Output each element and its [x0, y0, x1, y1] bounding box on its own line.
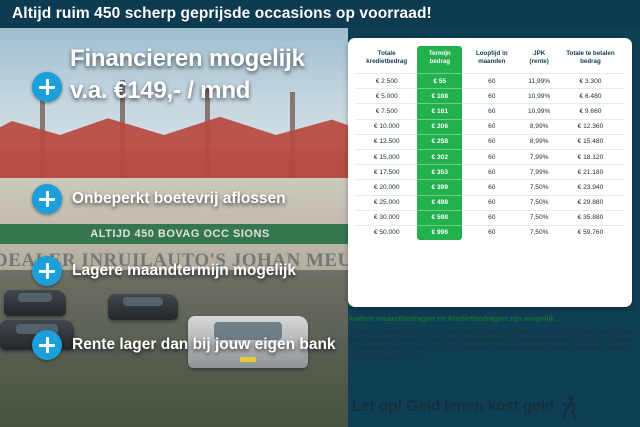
col-header-total-credit: Totale kredietbedrag: [356, 46, 417, 74]
table-cell: € 17.500: [356, 165, 417, 180]
table-cell: € 50.000: [356, 225, 417, 240]
table-cell: € 10.000: [356, 119, 417, 134]
table-cell: 7,50%: [521, 210, 556, 225]
table-cell: € 59.760: [557, 225, 624, 240]
table-cell: € 6.480: [557, 89, 624, 104]
table-row: € 10.000€ 206608,99%€ 12.360: [356, 119, 624, 134]
cell-monthly-amount: € 353: [417, 165, 462, 180]
rate-table-card: Totale kredietbedrag Termijn bedrag Loop…: [348, 38, 632, 307]
table-cell: 11,99%: [521, 74, 556, 89]
table-row: € 7.500€ 1616010,99%€ 9.660: [356, 104, 624, 119]
table-cell: € 3.300: [557, 74, 624, 89]
banner-text: ALTIJD 450 BOVAG OCC SIONS: [0, 224, 348, 244]
headline-block: Financieren mogelijk v.a. €149,- / mnd: [70, 44, 342, 106]
walking-person-icon: [560, 395, 580, 419]
col-header-total-payable: Totale te betalen bedrag: [557, 46, 624, 74]
table-cell: 7,50%: [521, 195, 556, 210]
cell-monthly-amount: € 598: [417, 210, 462, 225]
bullet-label: Lagere maandtermijn mogelijk: [72, 262, 296, 280]
headline-plus-row: [32, 72, 62, 102]
table-cell: 60: [462, 149, 521, 164]
table-cell: 60: [462, 195, 521, 210]
legal-body: Genoemde voorbeelden zijn op basis van p…: [348, 328, 632, 362]
table-cell: € 2.500: [356, 74, 417, 89]
table-cell: € 15.000: [356, 149, 417, 164]
table-cell: € 15.480: [557, 134, 624, 149]
table-cell: 60: [462, 74, 521, 89]
cell-monthly-amount: € 996: [417, 225, 462, 240]
cell-monthly-amount: € 55: [417, 74, 462, 89]
table-cell: € 20.000: [356, 180, 417, 195]
plus-icon: [32, 72, 62, 102]
bullet-label: Rente lager dan bij jouw eigen bank: [72, 336, 336, 354]
table-header-row: Totale kredietbedrag Termijn bedrag Loop…: [356, 46, 624, 74]
table-cell: 60: [462, 104, 521, 119]
top-banner-text: Altijd ruim 450 scherp geprijsde occasio…: [0, 5, 432, 23]
cell-monthly-amount: € 302: [417, 149, 462, 164]
plus-icon: [32, 184, 62, 214]
table-cell: € 30.000: [356, 210, 417, 225]
car-window: [18, 293, 53, 302]
table-cell: € 7.500: [356, 104, 417, 119]
table-row: € 15.000€ 302607,99%€ 18.120: [356, 149, 624, 164]
parked-car: [4, 290, 66, 316]
cell-monthly-amount: € 258: [417, 134, 462, 149]
cell-monthly-amount: € 498: [417, 195, 462, 210]
plus-icon: [32, 330, 62, 360]
table-cell: € 9.660: [557, 104, 624, 119]
headline-line-1: Financieren mogelijk: [70, 44, 342, 74]
table-cell: 8,99%: [521, 119, 556, 134]
table-cell: € 21.180: [557, 165, 624, 180]
table-cell: 10,99%: [521, 104, 556, 119]
payoff-text: Let op! Geld lenen kost geld: [352, 398, 554, 416]
cell-monthly-amount: € 108: [417, 89, 462, 104]
table-cell: 60: [462, 134, 521, 149]
table-cell: 7,99%: [521, 149, 556, 164]
col-header-apr: JPK (rente): [521, 46, 556, 74]
bullet-item-3: Rente lager dan bij jouw eigen bank: [32, 330, 336, 360]
cell-monthly-amount: € 161: [417, 104, 462, 119]
table-row: € 50.000€ 996607,50%€ 59.760: [356, 225, 624, 240]
plus-icon: [32, 256, 62, 286]
table-row: € 5.000€ 1086010,99%€ 6.480: [356, 89, 624, 104]
table-cell: 60: [462, 165, 521, 180]
car-window: [123, 297, 162, 306]
cell-monthly-amount: € 206: [417, 119, 462, 134]
top-banner: Altijd ruim 450 scherp geprijsde occasio…: [0, 0, 640, 28]
table-cell: € 25.000: [356, 195, 417, 210]
table-cell: 7,99%: [521, 165, 556, 180]
table-cell: 7,50%: [521, 225, 556, 240]
legal-block: Andere maandbedragen en kredietbedragen …: [348, 314, 632, 362]
table-cell: 7,50%: [521, 180, 556, 195]
headline-line-2: v.a. €149,- / mnd: [70, 76, 342, 106]
table-row: € 20.000€ 399607,50%€ 23.940: [356, 180, 624, 195]
payoff-block: Let op! Geld lenen kost geld: [352, 395, 636, 419]
table-cell: 10,99%: [521, 89, 556, 104]
bullet-label: Onbeperkt boetevrij aflossen: [72, 190, 286, 208]
table-cell: 60: [462, 210, 521, 225]
table-cell: 8,99%: [521, 134, 556, 149]
bullet-item-1: Onbeperkt boetevrij aflossen: [32, 184, 286, 214]
table-cell: € 12.360: [557, 119, 624, 134]
parked-car: [108, 294, 178, 320]
table-cell: € 23.940: [557, 180, 624, 195]
table-row: € 30.000€ 598607,50%€ 35.880: [356, 210, 624, 225]
col-header-monthly-amount: Termijn bedrag: [417, 46, 462, 74]
table-cell: 60: [462, 225, 521, 240]
rate-table: Totale kredietbedrag Termijn bedrag Loop…: [356, 46, 624, 240]
table-cell: 60: [462, 119, 521, 134]
col-header-duration: Looptijd in maanden: [462, 46, 521, 74]
table-cell: € 35.880: [557, 210, 624, 225]
table-row: € 25.000€ 498607,50%€ 29.880: [356, 195, 624, 210]
advertisement-image: ALTIJD 450 BOVAG OCC SIONS DEALER INRUIL…: [0, 0, 640, 427]
table-row: € 12.500€ 258608,99%€ 15.480: [356, 134, 624, 149]
table-row: € 2.500€ 556011,99%€ 3.300: [356, 74, 624, 89]
table-cell: € 18.120: [557, 149, 624, 164]
table-row: € 17.500€ 353607,99%€ 21.180: [356, 165, 624, 180]
table-cell: 60: [462, 89, 521, 104]
table-cell: € 12.500: [356, 134, 417, 149]
bullet-item-2: Lagere maandtermijn mogelijk: [32, 256, 296, 286]
table-cell: € 29.880: [557, 195, 624, 210]
table-cell: 60: [462, 180, 521, 195]
cell-monthly-amount: € 399: [417, 180, 462, 195]
legal-heading: Andere maandbedragen en kredietbedragen …: [348, 314, 632, 324]
table-cell: € 5.000: [356, 89, 417, 104]
